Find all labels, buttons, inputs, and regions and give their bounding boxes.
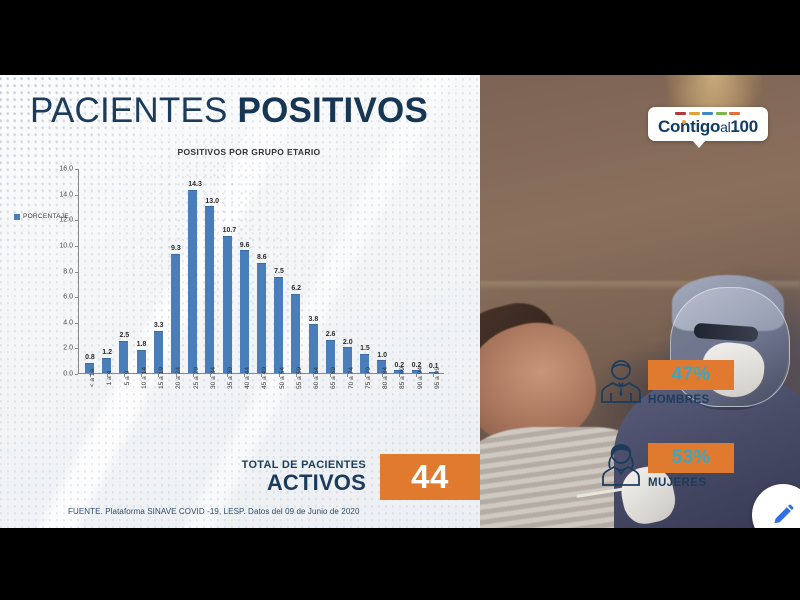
x-tick-label: 65 a 69 — [322, 376, 339, 438]
stat-mujeres-box: 53% — [648, 443, 734, 473]
stat-hombres-label: HOMBRES — [648, 394, 734, 406]
y-tick-label: 8.0 — [63, 268, 73, 275]
bar-value-label: 6.2 — [291, 285, 301, 292]
bar-column: 1.5 — [356, 169, 373, 373]
logo-color-bar — [716, 112, 727, 115]
bar-column: 0.1 — [425, 169, 442, 373]
bar: 14.3 — [188, 190, 197, 373]
x-tick-label: 20 a 24 — [167, 376, 184, 438]
x-tick-label: 45 a 49 — [253, 376, 270, 438]
x-tick-label: 95 a 99 — [426, 376, 443, 438]
x-tick-label: 70 a 74 — [340, 376, 357, 438]
x-tick-label: 75 a 79 — [357, 376, 374, 438]
bar-value-label: 9.3 — [171, 245, 181, 252]
legend-swatch-porcentaje — [14, 214, 20, 220]
logo-text-contigo: Contigo — [658, 117, 720, 136]
bar-column: 1.0 — [373, 169, 390, 373]
legend-label-porcentaje: PORCENTAJE — [23, 213, 69, 220]
logo-text-100: 100 — [730, 117, 757, 136]
pen-icon — [770, 502, 796, 528]
x-tick-label: 50 a 54 — [271, 376, 288, 438]
logo-color-bar — [675, 112, 686, 115]
y-tick-label: 0.0 — [63, 371, 73, 378]
bar: 6.2 — [291, 294, 300, 373]
bar: 9.3 — [171, 254, 180, 373]
bar-value-label: 13.0 — [205, 198, 219, 205]
contigo-al-100-logo: Contigoal100 — [648, 107, 768, 141]
stat-hombres-percent: 47% — [672, 364, 711, 386]
bar-column: 0.2 — [390, 169, 407, 373]
logo-color-bars — [658, 112, 758, 115]
bar-chart: POSITIVOS POR GRUPO ETARIO 0.02.04.06.08… — [0, 147, 480, 447]
bar-value-label: 7.5 — [274, 268, 284, 275]
x-tick-label: < a 1a — [81, 376, 98, 438]
bar-value-label: 2.6 — [326, 331, 336, 338]
page-title-bold: POSITIVOS — [238, 91, 428, 130]
x-tick-label: 30 a 34 — [202, 376, 219, 438]
y-tick-label: 14.0 — [59, 191, 73, 198]
male-avatar-icon — [600, 358, 642, 409]
bar-value-label: 8.6 — [257, 254, 267, 261]
y-tick-mark — [75, 297, 78, 298]
bar-value-label: 3.3 — [154, 322, 164, 329]
x-tick-label: 35 a 39 — [219, 376, 236, 438]
total-caption-line2: ACTIVOS — [242, 472, 366, 494]
bar-column: 3.3 — [150, 169, 167, 373]
stat-mujeres: 53% MUJERES — [648, 443, 734, 489]
bar-value-label: 1.8 — [137, 341, 147, 348]
screenshot-stage: PACIENTES POSITIVOS PORCENTAJE POSITIVOS… — [0, 0, 800, 600]
total-caption: TOTAL DE PACIENTES ACTIVOS — [242, 460, 366, 494]
bar: 9.6 — [240, 250, 249, 373]
bar-column: 13.0 — [201, 169, 218, 373]
bar-value-label: 9.6 — [240, 242, 250, 249]
bar-value-label: 0.8 — [85, 354, 95, 361]
bar-value-label: 1.0 — [377, 352, 387, 359]
female-avatar-icon — [600, 441, 642, 492]
page-title-light: PACIENTES — [30, 91, 228, 130]
bar: 13.0 — [205, 206, 214, 373]
bar-column: 8.6 — [253, 169, 270, 373]
y-tick-mark — [75, 348, 78, 349]
bar-value-label: 3.8 — [309, 316, 319, 323]
y-tick-label: 6.0 — [63, 294, 73, 301]
y-tick-mark — [75, 195, 78, 196]
stat-hombres-box: 47% — [648, 360, 734, 390]
bar: 10.7 — [223, 236, 232, 373]
bar-column: 2.5 — [115, 169, 132, 373]
y-tick-label: 2.0 — [63, 345, 73, 352]
x-tick-label: 15 a 19 — [150, 376, 167, 438]
stat-hombres: 47% HOMBRES — [648, 360, 734, 406]
stat-mujeres-percent: 53% — [672, 447, 711, 469]
logo-color-bar — [702, 112, 713, 115]
y-tick-mark — [75, 272, 78, 273]
logo-accent-dot — [682, 120, 686, 124]
x-tick-label: 1 a 4 — [98, 376, 115, 438]
x-tick-label: 5 a 9 — [115, 376, 132, 438]
bar-column: 2.0 — [339, 169, 356, 373]
photo-panel: Contigoal100 — [480, 75, 800, 528]
logo-speech-tail — [692, 140, 706, 148]
bar-column: 0.2 — [408, 169, 425, 373]
total-value: 44 — [411, 458, 449, 496]
bar-column: 9.6 — [236, 169, 253, 373]
bar-column: 14.3 — [184, 169, 201, 373]
bar-column: 3.8 — [304, 169, 321, 373]
bar-column: 1.2 — [98, 169, 115, 373]
page-title: PACIENTES POSITIVOS — [30, 91, 428, 131]
chart-legend: PORCENTAJE — [14, 213, 69, 220]
bar: 3.8 — [309, 324, 318, 373]
bar: 2.5 — [119, 341, 128, 373]
y-tick-mark — [75, 220, 78, 221]
bar-value-label: 2.0 — [343, 339, 353, 346]
y-tick-mark — [75, 374, 78, 375]
y-tick-label: 16.0 — [59, 166, 73, 173]
bar-column: 1.8 — [133, 169, 150, 373]
bar: 7.5 — [274, 277, 283, 373]
bar-value-label: 10.7 — [223, 227, 237, 234]
bar-value-label: 1.5 — [360, 345, 370, 352]
slide-content: PACIENTES POSITIVOS PORCENTAJE POSITIVOS… — [0, 75, 800, 528]
x-tick-label: 90 a 94 — [408, 376, 425, 438]
y-tick-label: 10.0 — [59, 242, 73, 249]
logo-wordmark: Contigoal100 — [658, 118, 758, 135]
x-tick-label: 40 a 44 — [236, 376, 253, 438]
bar-series-porcentaje: 0.81.22.51.83.39.314.313.010.79.68.67.56… — [79, 169, 444, 373]
bar-column: 7.5 — [270, 169, 287, 373]
x-tick-label: 60 a 64 — [305, 376, 322, 438]
x-tick-label: 80 a 84 — [374, 376, 391, 438]
total-active-patients: TOTAL DE PACIENTES ACTIVOS 44 — [0, 453, 480, 501]
logo-color-bar — [689, 112, 700, 115]
y-tick-label: 4.0 — [63, 319, 73, 326]
bar-column: 9.3 — [167, 169, 184, 373]
logo-text-al: al — [720, 119, 730, 135]
bar-column: 6.2 — [287, 169, 304, 373]
y-tick-mark — [75, 169, 78, 170]
x-tick-label: 85 a 89 — [391, 376, 408, 438]
bar: 8.6 — [257, 263, 266, 373]
x-tick-label: 10 a 14 — [133, 376, 150, 438]
total-value-box: 44 — [380, 454, 480, 500]
x-tick-label: 55 a 59 — [288, 376, 305, 438]
x-tick-label: 25 a 29 — [184, 376, 201, 438]
bar-value-label: 1.2 — [102, 349, 112, 356]
chart-panel: PACIENTES POSITIVOS PORCENTAJE POSITIVOS… — [0, 75, 480, 528]
bar-column: 10.7 — [219, 169, 236, 373]
bar-value-label: 14.3 — [188, 181, 202, 188]
bar-column: 2.6 — [322, 169, 339, 373]
y-tick-mark — [75, 246, 78, 247]
source-note: FUENTE. Plataforma SINAVE COVID -19, LES… — [68, 507, 360, 516]
y-tick-mark — [75, 323, 78, 324]
bar-value-label: 2.5 — [119, 332, 129, 339]
logo-color-bar — [729, 112, 740, 115]
stat-mujeres-label: MUJERES — [648, 477, 734, 489]
bar-column: 0.8 — [81, 169, 98, 373]
chart-plot-area: 0.02.04.06.08.010.012.014.016.0 0.81.22.… — [78, 169, 444, 374]
chart-title: POSITIVOS POR GRUPO ETARIO — [0, 147, 480, 157]
x-axis-labels: < a 1a1 a 45 a 910 a 1415 a 1920 a 2425 … — [79, 376, 445, 438]
